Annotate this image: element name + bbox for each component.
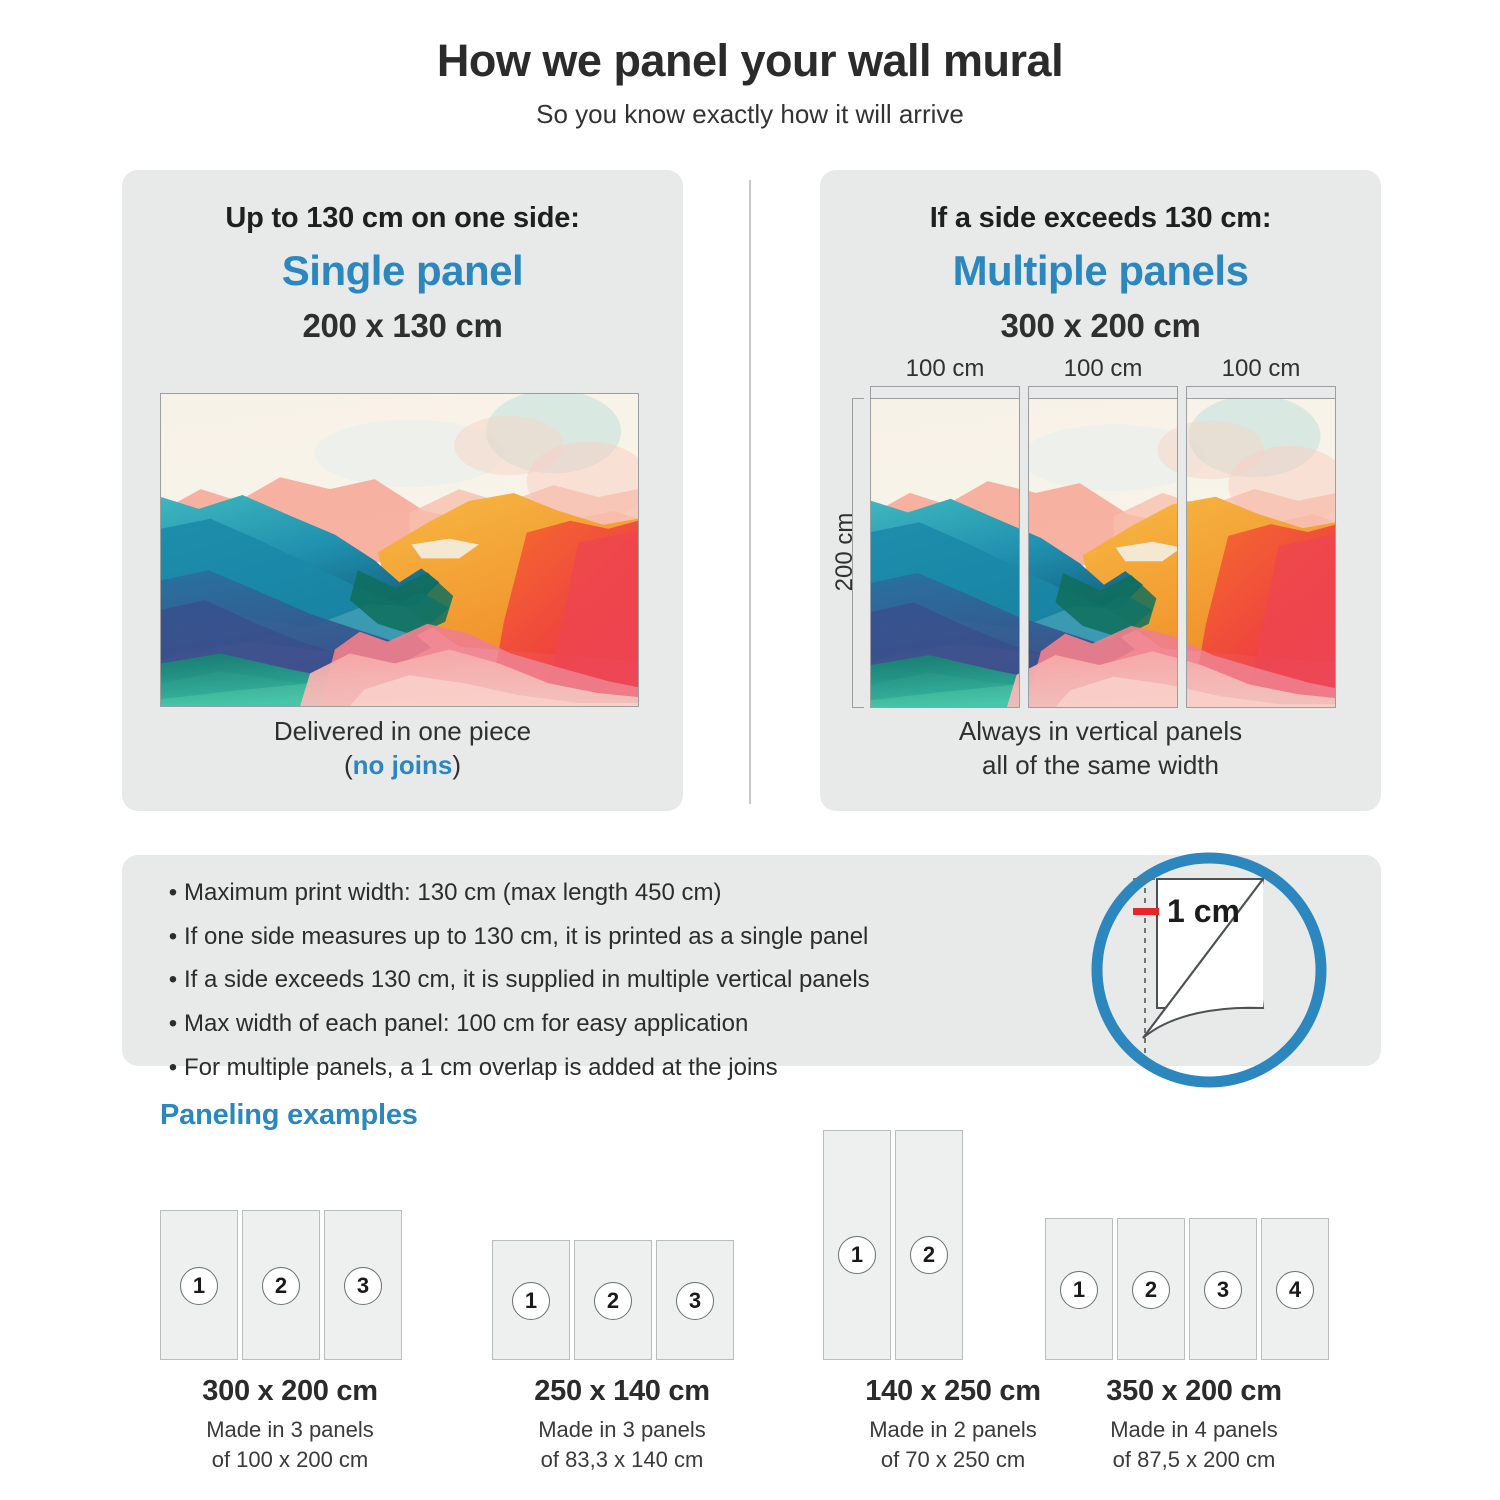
- panel-badge: 1: [1060, 1271, 1098, 1309]
- example-1-sub-line2: of 100 x 200 cm: [160, 1445, 420, 1475]
- example-3-sub-line1: Made in 2 panels: [823, 1415, 1083, 1445]
- overlap-label: 1 cm: [1167, 893, 1240, 929]
- paneling-examples-heading: Paneling examples: [160, 1099, 418, 1132]
- panel-badge: 2: [910, 1236, 948, 1274]
- multiple-panels-caption-line2: all of the same width: [820, 749, 1381, 783]
- watercolor-landscape-slice-2-icon: [1028, 399, 1178, 707]
- top-label-3: 100 cm: [1186, 355, 1336, 383]
- example-4-panel-3: 3: [1189, 1218, 1257, 1360]
- list-item-text: Max width of each panel: 100 cm for easy…: [184, 1008, 748, 1040]
- page-subtitle: So you know exactly how it will arrive: [0, 99, 1500, 130]
- mural-panel-1: [870, 398, 1020, 708]
- example-4-panel-4: 4: [1261, 1218, 1329, 1360]
- example-3-panel-2: 2: [895, 1130, 963, 1360]
- header: How we panel your wall mural So you know…: [0, 36, 1500, 130]
- example-3-panel-1: 1: [823, 1130, 891, 1360]
- infographic-page: How we panel your wall mural So you know…: [0, 0, 1500, 1500]
- watercolor-landscape-icon: [161, 394, 638, 706]
- example-4-panel-2: 2: [1117, 1218, 1185, 1360]
- list-item: • If one side measures up to 130 cm, it …: [162, 921, 1082, 953]
- watercolor-landscape-slice-3-icon: [1186, 399, 1336, 707]
- cards-divider: [749, 180, 751, 804]
- example-1-panel-3: 3: [324, 1210, 402, 1360]
- list-item-text: If one side measures up to 130 cm, it is…: [184, 921, 868, 953]
- example-2-sub-line2: of 83,3 x 140 cm: [492, 1445, 752, 1475]
- example-4-sub-line1: Made in 4 panels: [1045, 1415, 1343, 1445]
- single-panel-condition: Up to 130 cm on one side:: [122, 202, 683, 235]
- list-item: • For multiple panels, a 1 cm overlap is…: [162, 1052, 1082, 1084]
- example-4-panel-1: 1: [1045, 1218, 1113, 1360]
- example-2-panel-1: 1: [492, 1240, 570, 1360]
- specs-list: • Maximum print width: 130 cm (max lengt…: [162, 877, 1082, 1095]
- panel-badge: 2: [262, 1267, 300, 1305]
- example-2-title: 250 x 140 cm: [492, 1375, 752, 1408]
- example-4-title: 350 x 200 cm: [1045, 1375, 1343, 1408]
- top-bracket-2: [1028, 386, 1178, 387]
- example-2-panel-3: 3: [656, 1240, 734, 1360]
- top-bracket-2-tick-left: [1028, 386, 1029, 398]
- example-3-panels: 1 2: [823, 1130, 963, 1360]
- panel-badge: 2: [1132, 1271, 1170, 1309]
- single-panel-caption-line2: (no joins): [122, 749, 683, 783]
- bullet-dot-icon: •: [162, 964, 184, 996]
- example-2-subtitle: Made in 3 panels of 83,3 x 140 cm: [492, 1415, 752, 1475]
- top-bracket-3-tick-right: [1335, 386, 1336, 398]
- top-bracket-3: [1186, 386, 1336, 387]
- top-label-2: 100 cm: [1028, 355, 1178, 383]
- top-bracket-1: [870, 386, 1020, 387]
- side-bracket-tick-bottom: [852, 707, 864, 708]
- panel-badge: 4: [1276, 1271, 1314, 1309]
- multiple-panels-card: If a side exceeds 130 cm: Multiple panel…: [820, 170, 1381, 811]
- multiple-panels-condition: If a side exceeds 130 cm:: [820, 202, 1381, 235]
- list-item-text: If a side exceeds 130 cm, it is supplied…: [184, 964, 870, 996]
- panel-badge: 2: [594, 1282, 632, 1320]
- top-label-1: 100 cm: [870, 355, 1020, 383]
- panel-badge: 3: [676, 1282, 714, 1320]
- page-title: How we panel your wall mural: [0, 36, 1500, 86]
- bullet-dot-icon: •: [162, 921, 184, 953]
- bullet-dot-icon: •: [162, 877, 184, 909]
- single-panel-caption: Delivered in one piece (no joins): [122, 715, 683, 783]
- mural-panel-3: [1186, 398, 1336, 708]
- example-1-sub-line1: Made in 3 panels: [160, 1415, 420, 1445]
- single-panel-size: 200 x 130 cm: [122, 307, 683, 345]
- no-joins-accent: no joins: [353, 750, 453, 780]
- paneled-mural-diagram: 100 cm 100 cm 100 cm 200 cm: [870, 398, 1336, 708]
- top-bracket-1-tick-right: [1019, 386, 1020, 398]
- top-bracket-3-tick-left: [1186, 386, 1187, 398]
- paren-open: (: [344, 750, 353, 780]
- overlap-detail-circle: 1 cm: [1085, 846, 1333, 1094]
- panel-badge: 3: [344, 1267, 382, 1305]
- example-2-panels: 1 2 3: [492, 1240, 734, 1360]
- example-3-sub-line2: of 70 x 250 cm: [823, 1445, 1083, 1475]
- multiple-panels-caption: Always in vertical panels all of the sam…: [820, 715, 1381, 783]
- list-item: • If a side exceeds 130 cm, it is suppli…: [162, 964, 1082, 996]
- paren-close: ): [452, 750, 461, 780]
- list-item: • Max width of each panel: 100 cm for ea…: [162, 1008, 1082, 1040]
- list-item-text: Maximum print width: 130 cm (max length …: [184, 877, 722, 909]
- top-bracket-1-tick-left: [870, 386, 871, 398]
- example-1-panel-1: 1: [160, 1210, 238, 1360]
- bullet-dot-icon: •: [162, 1008, 184, 1040]
- example-1-panel-2: 2: [242, 1210, 320, 1360]
- example-4-subtitle: Made in 4 panels of 87,5 x 200 cm: [1045, 1415, 1343, 1475]
- panel-badge: 1: [180, 1267, 218, 1305]
- example-1-title: 300 x 200 cm: [160, 1375, 420, 1408]
- multiple-panels-size: 300 x 200 cm: [820, 307, 1381, 345]
- list-item-text: For multiple panels, a 1 cm overlap is a…: [184, 1052, 778, 1084]
- example-4-sub-line2: of 87,5 x 200 cm: [1045, 1445, 1343, 1475]
- panel-badge: 1: [838, 1236, 876, 1274]
- side-bracket-tick-top: [852, 398, 864, 399]
- panel-badge: 1: [512, 1282, 550, 1320]
- peeling-sheet-overlap-icon: 1 cm: [1085, 846, 1333, 1094]
- mural-artwork-single: [160, 393, 639, 707]
- example-1-panels: 1 2 3: [160, 1210, 402, 1360]
- bullet-dot-icon: •: [162, 1052, 184, 1084]
- panel-badge: 3: [1204, 1271, 1242, 1309]
- mural-panel-2: [1028, 398, 1178, 708]
- single-panel-card: Up to 130 cm on one side: Single panel 2…: [122, 170, 683, 811]
- example-4-panels: 1 2 3 4: [1045, 1218, 1329, 1360]
- watercolor-landscape-slice-1-icon: [871, 399, 1020, 707]
- top-bracket-2-tick-right: [1177, 386, 1178, 398]
- list-item: • Maximum print width: 130 cm (max lengt…: [162, 877, 1082, 909]
- side-label-200cm: 200 cm: [831, 467, 859, 637]
- example-2-sub-line1: Made in 3 panels: [492, 1415, 752, 1445]
- example-1-subtitle: Made in 3 panels of 100 x 200 cm: [160, 1415, 420, 1475]
- single-panel-result: Single panel: [122, 247, 683, 295]
- example-3-subtitle: Made in 2 panels of 70 x 250 cm: [823, 1415, 1083, 1475]
- multiple-panels-caption-line1: Always in vertical panels: [820, 715, 1381, 749]
- example-3-title: 140 x 250 cm: [823, 1375, 1083, 1408]
- example-2-panel-2: 2: [574, 1240, 652, 1360]
- single-panel-caption-line1: Delivered in one piece: [122, 715, 683, 749]
- multiple-panels-result: Multiple panels: [820, 247, 1381, 295]
